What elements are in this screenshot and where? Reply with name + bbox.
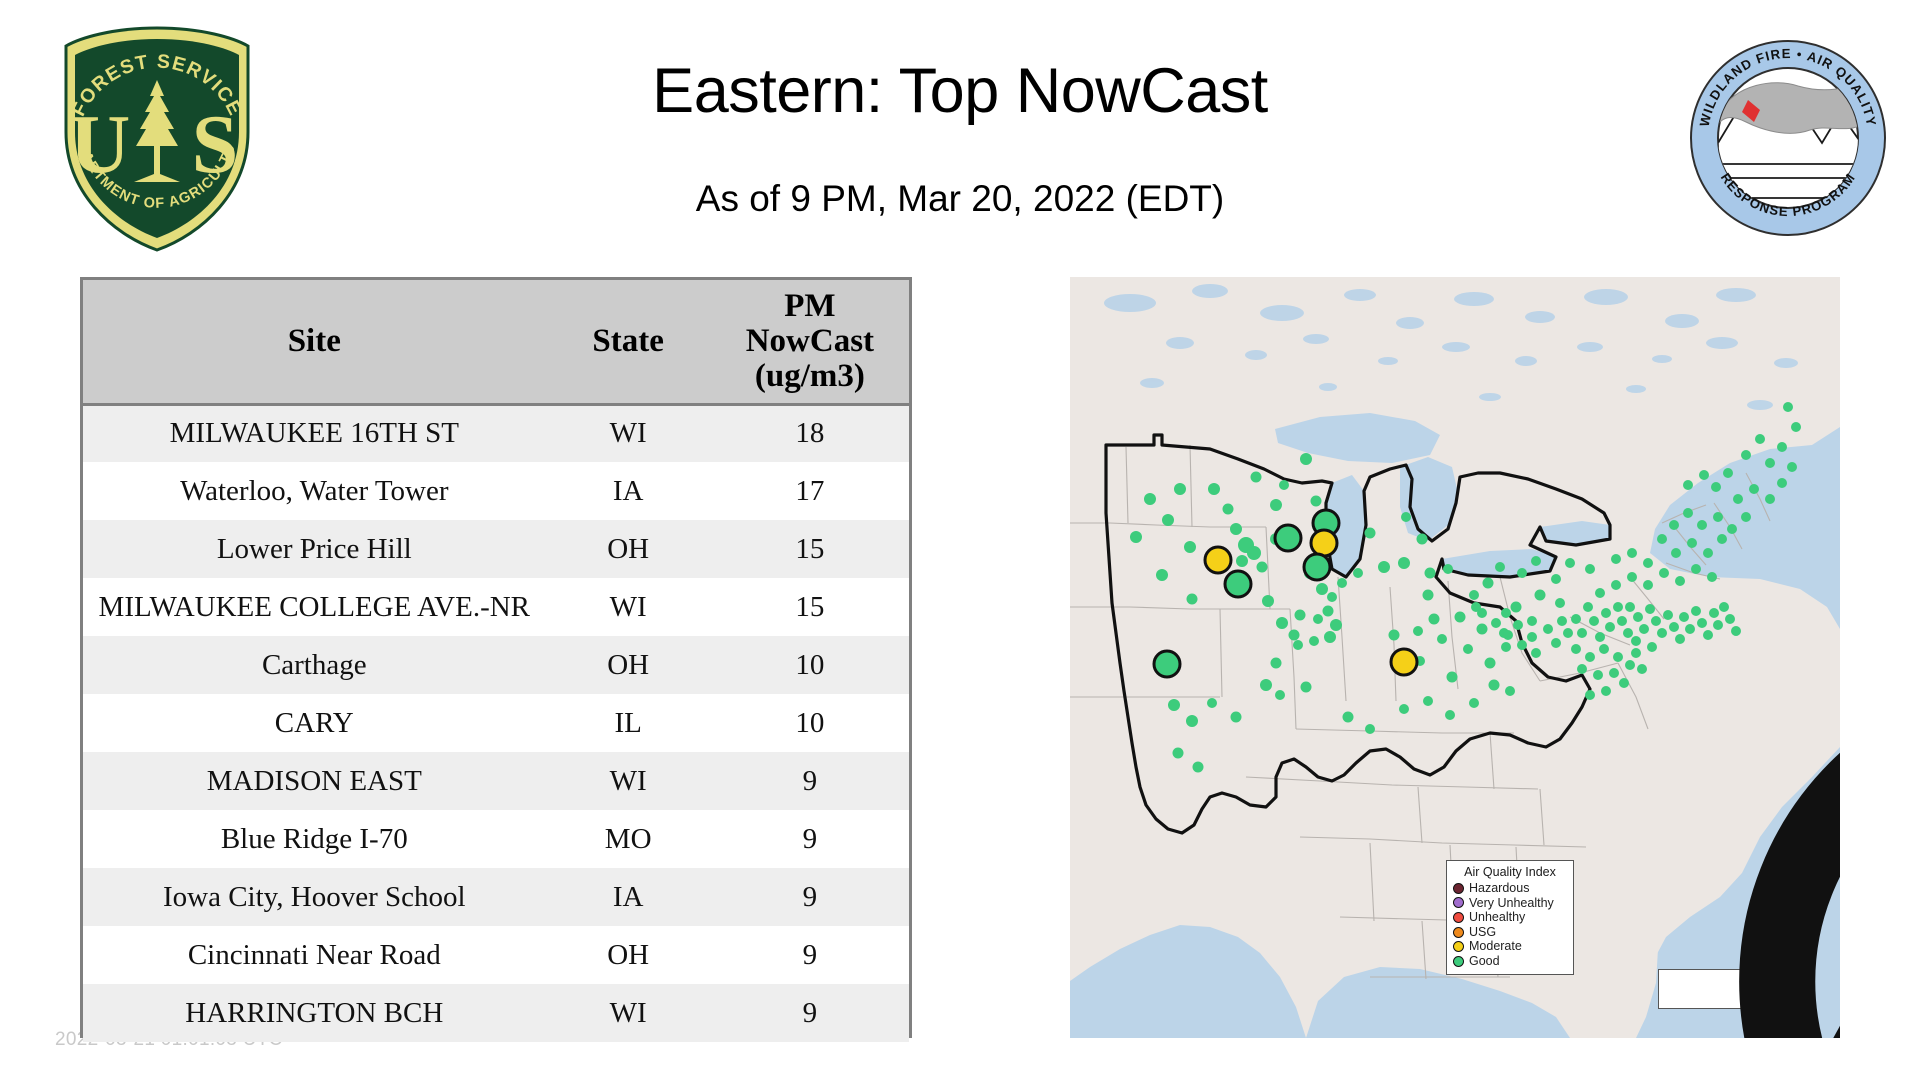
table-row: MADISON EASTWI9 — [83, 752, 909, 810]
column-header-site-label: Site — [288, 323, 341, 359]
aqi-legend-label: Good — [1469, 955, 1500, 968]
aqi-swatch-icon — [1453, 956, 1464, 967]
table-row: MILWAUKEE 16TH STWI18 — [83, 404, 909, 462]
pm-nowcast-cell: 18 — [711, 404, 909, 462]
aqi-legend-row: USG — [1453, 925, 1567, 940]
site-cell: Cincinnati Near Road — [83, 926, 546, 984]
site-cell: Carthage — [83, 636, 546, 694]
pm-line-3: (ug/m3) — [755, 358, 865, 394]
pm-nowcast-cell: 17 — [711, 462, 909, 520]
site-cell: CARY — [83, 694, 546, 752]
state-cell: OH — [546, 926, 711, 984]
aqi-legend-label: Very Unhealthy — [1469, 897, 1554, 910]
forest-service-logo: FOREST SERVICE DEPARTMENT OF AGRICULTURE… — [52, 22, 262, 257]
page-subtitle: As of 9 PM, Mar 20, 2022 (EDT) — [330, 178, 1590, 220]
page-title: Eastern: Top NowCast — [330, 58, 1590, 124]
state-cell: OH — [546, 636, 711, 694]
aqi-swatch-icon — [1453, 912, 1464, 923]
column-header-state-label: State — [592, 323, 663, 359]
pm-nowcast-cell: 15 — [711, 520, 909, 578]
aqi-swatch-icon — [1453, 941, 1464, 952]
aqi-swatch-icon — [1453, 897, 1464, 908]
table-body: MILWAUKEE 16TH STWI18Waterloo, Water Tow… — [83, 404, 909, 1042]
table-row: Iowa City, Hoover SchoolIA9 — [83, 868, 909, 926]
aqi-legend-label: Unhealthy — [1469, 911, 1525, 924]
pm-nowcast-cell: 9 — [711, 810, 909, 868]
site-marker-blue-ridge — [1154, 651, 1180, 677]
column-header-state: State — [546, 280, 711, 404]
table-row: CARYIL10 — [83, 694, 909, 752]
pm-nowcast-cell: 9 — [711, 752, 909, 810]
site-cell: MADISON EAST — [83, 752, 546, 810]
pm-nowcast-cell: 10 — [711, 694, 909, 752]
svg-text:S: S — [192, 98, 239, 191]
column-header-pm-nowcast: PM NowCast (ug/m3) — [711, 280, 909, 404]
aqi-legend-row: Good — [1453, 954, 1567, 969]
aqi-legend-rows: HazardousVery UnhealthyUnhealthyUSGModer… — [1453, 881, 1567, 969]
pm-nowcast-cell: 9 — [711, 926, 909, 984]
aqi-legend-row: Very Unhealthy — [1453, 896, 1567, 911]
aqi-legend-title: Air Quality Index — [1453, 865, 1567, 879]
site-cell: Blue Ridge I-70 — [83, 810, 546, 868]
site-cell: Iowa City, Hoover School — [83, 868, 546, 926]
table-header-row: Site State PM NowCast (ug/m3) — [83, 280, 909, 404]
state-cell: IL — [546, 694, 711, 752]
site-marker-iowa-city — [1225, 571, 1251, 597]
site-marker-cincinnati — [1391, 649, 1417, 675]
table-row: Cincinnati Near RoadOH9 — [83, 926, 909, 984]
aqi-swatch-icon — [1453, 883, 1464, 894]
nowcast-table: Site State PM NowCast (ug/m3) MILWAUKEE … — [83, 280, 909, 1042]
table-row: HARRINGTON BCHWI9 — [83, 984, 909, 1042]
aqi-legend-row: Moderate — [1453, 939, 1567, 954]
site-cell: HARRINGTON BCH — [83, 984, 546, 1042]
site-cell: Waterloo, Water Tower — [83, 462, 546, 520]
pm-nowcast-cell: 10 — [711, 636, 909, 694]
table-row: Blue Ridge I-70MO9 — [83, 810, 909, 868]
table-row: MILWAUKEE COLLEGE AVE.-NRWI15 — [83, 578, 909, 636]
state-cell: IA — [546, 868, 711, 926]
aqi-legend: Air Quality Index HazardousVery Unhealth… — [1446, 860, 1574, 975]
aqi-legend-label: USG — [1469, 926, 1496, 939]
top-nowcast-table: Site State PM NowCast (ug/m3) MILWAUKEE … — [80, 277, 912, 1038]
pm-nowcast-cell: 15 — [711, 578, 909, 636]
aqi-legend-row: Hazardous — [1453, 881, 1567, 896]
triangle-icon — [1664, 616, 1840, 1038]
site-legend-row-permanent: permanent — [1664, 989, 1756, 1004]
table-row: Waterloo, Water TowerIA17 — [83, 462, 909, 520]
table-header: Site State PM NowCast (ug/m3) — [83, 280, 909, 404]
state-cell: OH — [546, 520, 711, 578]
column-header-site: Site — [83, 280, 546, 404]
pm-nowcast-cell: 9 — [711, 984, 909, 1042]
state-cell: WI — [546, 578, 711, 636]
site-marker-mke-16th — [1311, 530, 1337, 556]
site-type-legend: temporary permanent — [1658, 969, 1762, 1009]
state-cell: WI — [546, 984, 711, 1042]
site-marker-madison — [1275, 525, 1301, 551]
aqi-legend-label: Moderate — [1469, 940, 1522, 953]
site-cell: MILWAUKEE COLLEGE AVE.-NR — [83, 578, 546, 636]
aqi-legend-label: Hazardous — [1469, 882, 1529, 895]
state-cell: WI — [546, 752, 711, 810]
wildland-fire-logo: WILDLAND FIRE • AIR QUALITY RESPONSE PRO… — [1688, 38, 1888, 238]
svg-text:U: U — [70, 98, 131, 191]
site-marker-cary — [1304, 554, 1330, 580]
air-quality-map[interactable]: Air Quality Index HazardousVery Unhealth… — [1070, 277, 1840, 1038]
aqi-legend-row: Unhealthy — [1453, 910, 1567, 925]
pm-line-2: NowCast — [746, 323, 874, 359]
site-marker-waterloo — [1205, 547, 1231, 573]
state-cell: IA — [546, 462, 711, 520]
aqi-swatch-icon — [1453, 927, 1464, 938]
pm-line-1: PM — [784, 288, 835, 324]
table-row: CarthageOH10 — [83, 636, 909, 694]
site-cell: Lower Price Hill — [83, 520, 546, 578]
site-cell: MILWAUKEE 16TH ST — [83, 404, 546, 462]
slide-canvas: FOREST SERVICE DEPARTMENT OF AGRICULTURE… — [0, 0, 1920, 1080]
pm-nowcast-cell: 9 — [711, 868, 909, 926]
table-row: Lower Price HillOH15 — [83, 520, 909, 578]
state-cell: MO — [546, 810, 711, 868]
state-cell: WI — [546, 404, 711, 462]
